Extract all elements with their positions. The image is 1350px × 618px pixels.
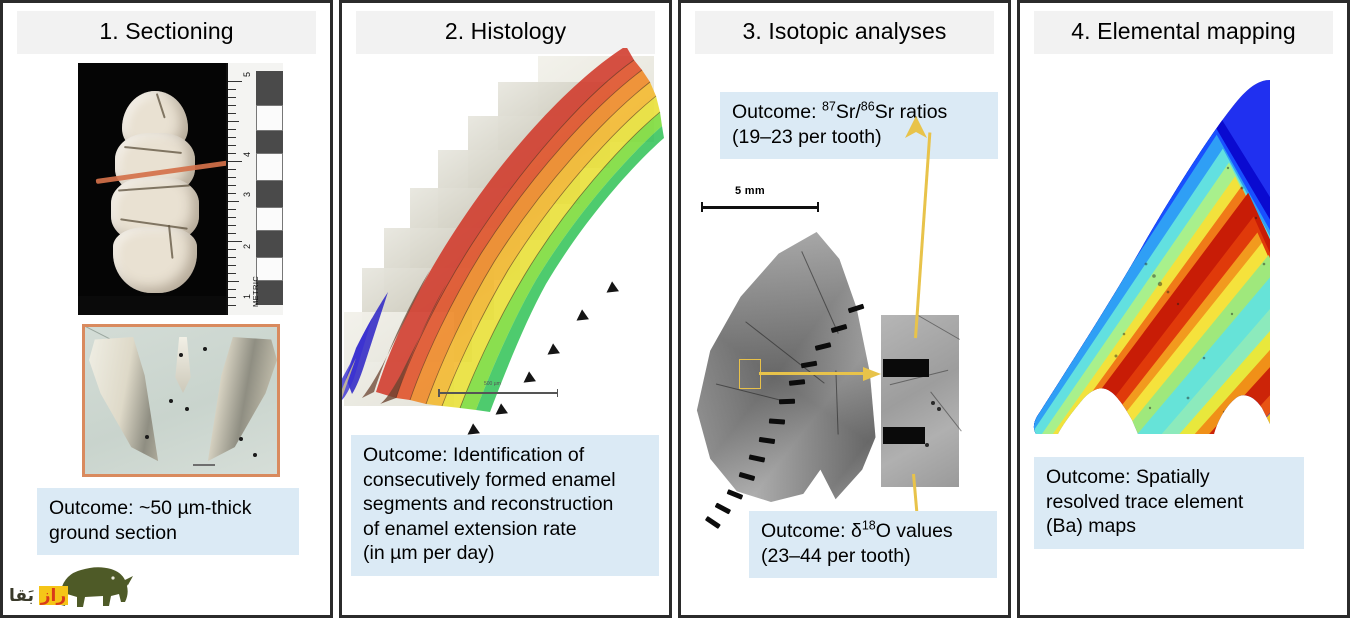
sup-86: 86: [861, 100, 875, 114]
panel-4-body: Outcome: Spatially resolved trace elemen…: [1020, 54, 1347, 618]
outcome-box-strontium: Outcome: 87Sr/86Sr ratios (19–23 per too…: [720, 92, 998, 159]
ablation-track-lower: [883, 427, 925, 444]
outcome-box-histology: Outcome: Identification of consecutively…: [351, 435, 659, 576]
element-sr-1: Sr/: [836, 101, 861, 123]
outcome-lead: Outcome:: [732, 101, 822, 123]
tooth-section-isotopic: [695, 232, 885, 502]
zoom-region-box: [739, 359, 761, 389]
scale-bar-5mm: [701, 206, 819, 209]
outcome-lead: Outcome: δ: [761, 520, 862, 542]
callout-arrow-shaft: [759, 372, 865, 375]
barium-elemental-map: [1028, 68, 1300, 444]
scale-bar-label: 5 mm: [735, 185, 765, 197]
ruler-label-3: 3: [242, 192, 252, 197]
figure-root: 1. Sectioning: [0, 0, 1350, 618]
outcome-line-2: (19–23 per tooth): [732, 126, 882, 148]
panel-1-header: 1. Sectioning: [17, 11, 316, 54]
panel-1-body: 5 4 3 2 1 METRIC: [3, 54, 330, 618]
ablation-track-upper: [883, 359, 929, 377]
ruler-unit-label: METRIC: [251, 276, 260, 307]
sampling-mark: [705, 516, 721, 529]
outcome-line-2: (23–44 per tooth): [761, 545, 911, 567]
outcome-line-3: segments and reconstruction: [363, 493, 613, 515]
sup-18: 18: [862, 519, 876, 533]
ruler-label-2: 2: [242, 244, 252, 249]
watermark-text: راز بَقا: [9, 586, 68, 606]
watermark-logo: راز بَقا: [7, 554, 139, 616]
panel-sectioning: 1. Sectioning: [0, 0, 333, 618]
ground-section-image: [82, 324, 280, 477]
ruler-label-5: 5: [242, 72, 252, 77]
watermark-text-rest: بَقا: [9, 586, 39, 605]
direction-arrow-up-head: [903, 116, 929, 140]
panel-histology: 2. Histology: [339, 0, 672, 618]
outcome-box-sectioning: Outcome: ~50 µm-thick ground section: [37, 488, 299, 555]
outcome-box-oxygen: Outcome: δ18O values (23–44 per tooth): [749, 511, 997, 578]
panel-3-body: Outcome: 87Sr/86Sr ratios (19–23 per too…: [681, 54, 1008, 618]
element-o: O values: [876, 520, 953, 542]
outcome-line-2: resolved trace element: [1046, 491, 1243, 513]
panel-2-body: 500 µm Outcome: Identification of consec…: [342, 54, 669, 618]
outcome-line-2: ground section: [49, 522, 177, 544]
histology-scale-label: 500 µm: [484, 381, 501, 387]
sampling-mark: [715, 503, 731, 514]
sup-87: 87: [822, 100, 836, 114]
outcome-line-1: Outcome: Spatially: [1046, 466, 1210, 488]
outcome-line-4: of enamel extension rate: [363, 518, 577, 540]
direction-arrow-up-shaft: [914, 132, 931, 338]
outcome-line-5: (in µm per day): [363, 542, 495, 564]
callout-arrow-head: [863, 364, 885, 384]
outcome-box-elemental: Outcome: Spatially resolved trace elemen…: [1034, 457, 1304, 549]
enamel-segment-overlay: [339, 48, 664, 428]
sampling-mark: [779, 399, 795, 404]
metric-ruler: 5 4 3 2 1 METRIC: [226, 63, 283, 315]
whole-tooth-photo: 5 4 3 2 1 METRIC: [78, 63, 283, 315]
panel-elemental-mapping: 4. Elemental mapping: [1017, 0, 1350, 618]
outcome-line-2: consecutively formed enamel: [363, 469, 616, 491]
outcome-line-1: Outcome: Identification of: [363, 444, 584, 466]
panel-4-header: 4. Elemental mapping: [1034, 11, 1333, 54]
ablation-inset: [881, 315, 959, 487]
outcome-line-1: Outcome: ~50 µm-thick: [49, 497, 252, 519]
histology-scale-bar: [438, 392, 558, 394]
panel-isotopic-analyses: 3. Isotopic analyses Outcome: 87Sr/86Sr …: [678, 0, 1011, 618]
panel-3-header: 3. Isotopic analyses: [695, 11, 994, 54]
watermark-text-highlight: راز: [39, 586, 68, 605]
tooth-specimen: [108, 91, 200, 296]
outcome-line-3: (Ba) maps: [1046, 515, 1136, 537]
ruler-label-4: 4: [242, 152, 252, 157]
